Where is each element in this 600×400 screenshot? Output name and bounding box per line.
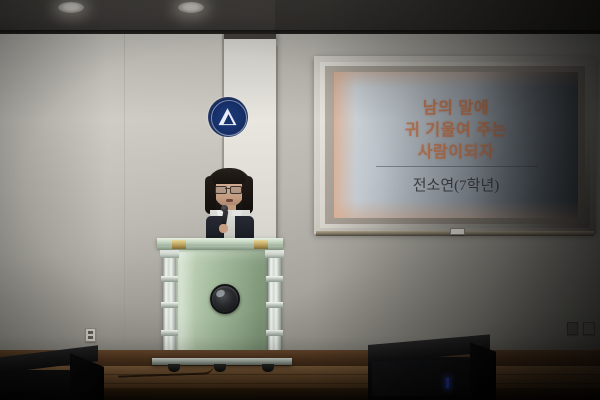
microphone-head-icon — [221, 205, 228, 212]
podium-caster — [214, 364, 226, 372]
glasses-bridge — [225, 188, 231, 189]
projector-screen-falloff — [470, 72, 578, 218]
stage-monitor-right-face — [372, 360, 484, 396]
student-speaker — [196, 168, 262, 242]
podium-highlight — [178, 252, 196, 356]
scene-root: 남의 말에 귀 기울여 주는 사람이되자 전소연(7학년) — [0, 0, 600, 400]
school-crest-icon — [208, 97, 248, 137]
podium-column-left — [163, 250, 176, 362]
podium-caster — [262, 364, 274, 372]
screen-clip — [450, 228, 465, 235]
power-outlet-icon[interactable] — [85, 328, 96, 342]
wall-seam — [124, 34, 125, 350]
wall-plate-2[interactable] — [583, 322, 595, 335]
downlight-icon-left — [58, 2, 84, 13]
wall-plate-1[interactable] — [567, 322, 578, 335]
stage-monitor-right-side — [470, 342, 496, 400]
projector-warm-spill-left — [334, 72, 356, 218]
downlight-icon-right — [178, 2, 204, 13]
podium-medallion-icon — [210, 284, 240, 314]
podium-brass-cap-left — [172, 240, 186, 249]
podium-column-right — [268, 250, 281, 362]
hair-fringe — [212, 170, 246, 184]
hand — [219, 224, 228, 233]
wall-pillar-cap — [224, 34, 276, 39]
glasses-lens-right — [230, 186, 242, 194]
podium-brass-cap-right — [254, 240, 268, 249]
crest-monogram-icon — [219, 108, 238, 125]
mouth — [226, 199, 233, 202]
monitor-led-indicator — [446, 378, 449, 388]
